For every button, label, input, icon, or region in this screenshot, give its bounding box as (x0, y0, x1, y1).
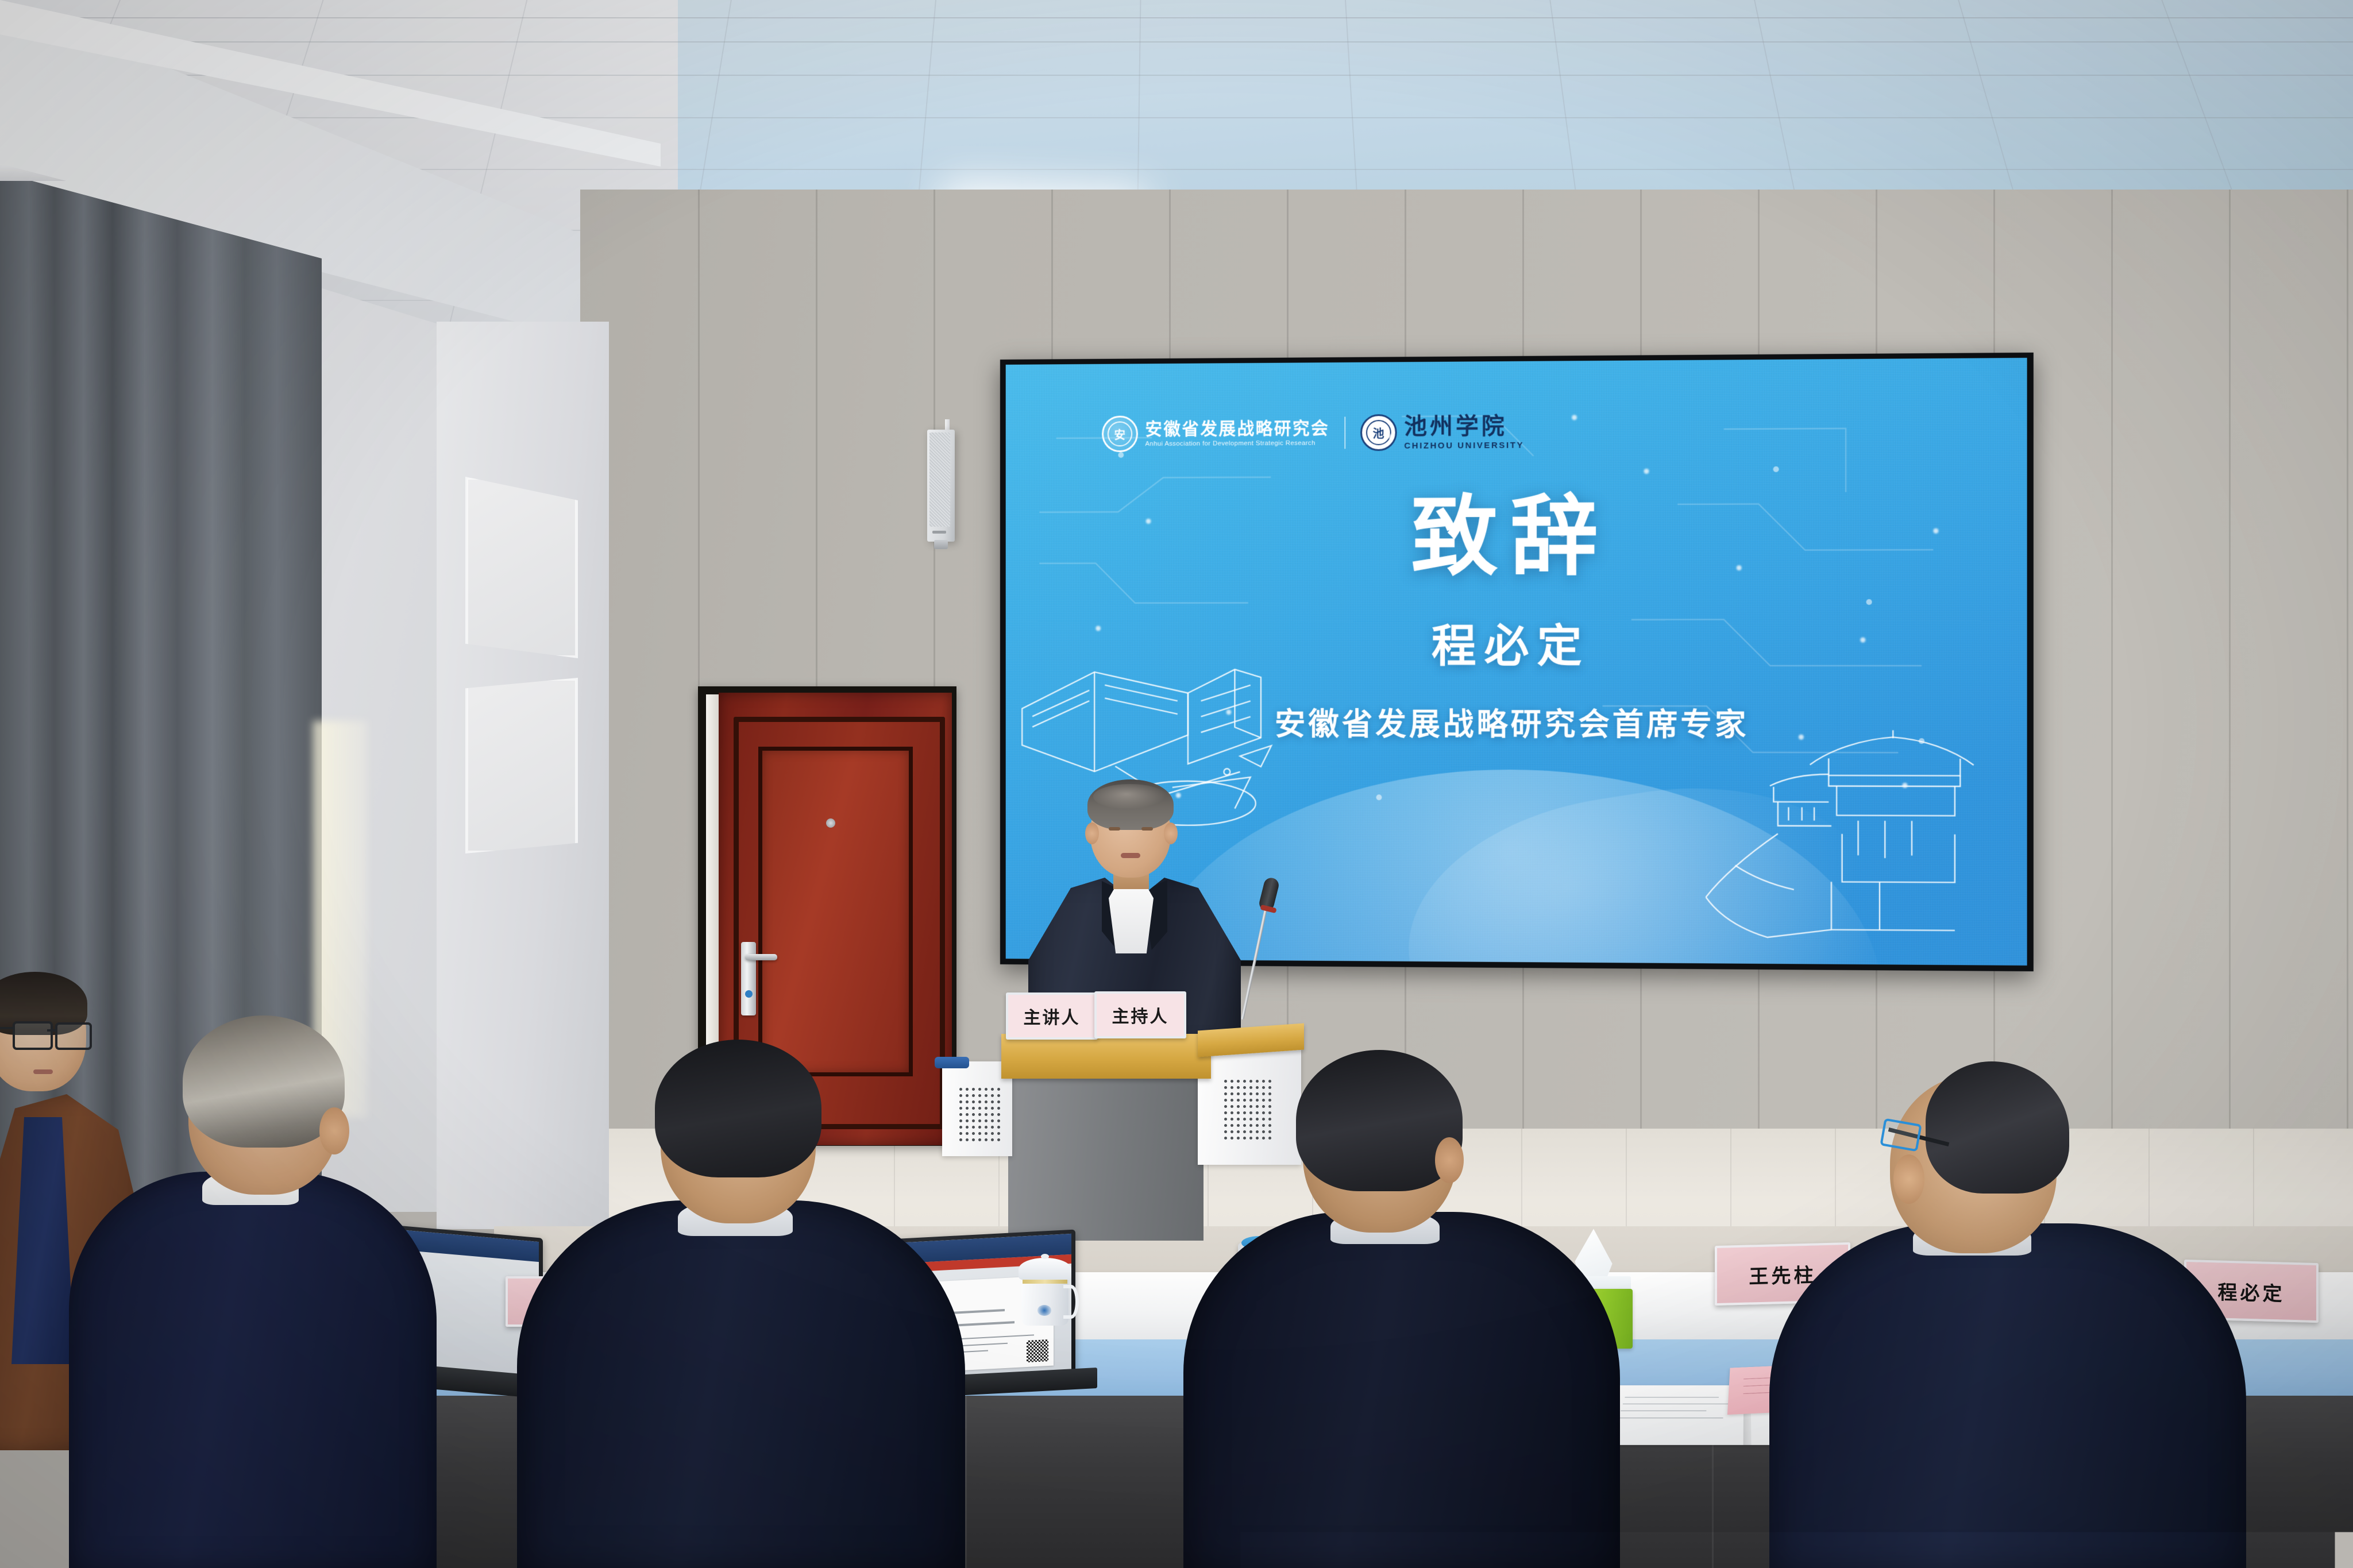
speaker-mount-bracket (934, 540, 948, 549)
slide-sparkle-dot (1737, 565, 1742, 570)
right-ear (1893, 1154, 1924, 1204)
door-handle-plate[interactable] (741, 942, 756, 1015)
chizhou-university-emblem-icon: 池 (1360, 414, 1397, 451)
tea-cup-body (1021, 1277, 1069, 1326)
lectern-body (1008, 1065, 1203, 1241)
door-panel-inner (758, 747, 913, 1076)
lectern-plate-host: 主持人 (1094, 991, 1186, 1038)
pillar-access-panel-lower (465, 678, 578, 853)
slide-sparkle-dot (1798, 734, 1803, 739)
grey-hair-navy-sweater (69, 1172, 437, 1568)
logo-anhui: 安 安徽省发展战略研究会 Anhui Association for Devel… (1102, 415, 1329, 453)
observer-mouth (33, 1069, 53, 1074)
anhui-emblem-glyph: 安 (1108, 422, 1132, 447)
center-left-suit (517, 1200, 965, 1568)
slide-text-block: 致辞 程必定 安徽省发展战略研究会首席专家 (1006, 492, 2027, 746)
podium-speaker-hair (1087, 779, 1174, 830)
speaker-ear-left (1085, 822, 1099, 844)
slide-title: 致辞 (1006, 492, 2027, 582)
slide-speaker-name: 程必定 (1006, 610, 2027, 675)
speaker-brand-badge (932, 531, 946, 534)
speaker-eye-right (1141, 827, 1153, 831)
slide-logo-row: 安 安徽省发展战略研究会 Anhui Association for Devel… (1102, 414, 1524, 453)
slide-sparkle-dot (1146, 519, 1151, 524)
lectern-speaker-grille-left (959, 1088, 1000, 1141)
chizhou-logo-cn: 池州学院 (1404, 414, 1524, 440)
lectern-wood-top (1001, 1034, 1211, 1079)
anhui-logo-en: Anhui Association for Development Strate… (1145, 440, 1329, 448)
right-navy-suit (1769, 1223, 2246, 1568)
conference-room-scene: 安 安徽省发展战略研究会 Anhui Association for Devel… (0, 0, 2353, 1568)
slide-sparkle-dot (1902, 783, 1907, 788)
lectern-plate-speaker: 主讲人 (1006, 992, 1098, 1040)
tea-cup-handle (1063, 1285, 1079, 1319)
center-right-suit (1183, 1212, 1620, 1568)
wall-pillar (437, 322, 609, 1229)
lectern: 主讲人 主持人 (951, 1011, 1295, 1241)
slide-canvas: 安 安徽省发展战略研究会 Anhui Association for Devel… (1006, 358, 2027, 965)
wall-column-speaker (927, 430, 955, 542)
lectern-side-panel-right (1198, 1050, 1301, 1165)
chizhou-logo-en: CHIZHOU UNIVERSITY (1404, 441, 1524, 451)
grey-hair-ear (319, 1107, 349, 1154)
pillar-access-panel-upper (465, 477, 578, 658)
speaker-mouth (1121, 853, 1140, 858)
led-display-wall: 安 安徽省发展战略研究会 Anhui Association for Devel… (1000, 353, 2034, 971)
speaker-eye-left (1109, 827, 1120, 831)
door-peephole-icon (826, 818, 835, 828)
lectern-blue-control[interactable] (935, 1057, 969, 1068)
anhui-logo-cn: 安徽省发展战略研究会 (1145, 419, 1329, 439)
logo-divider (1344, 417, 1345, 449)
slide-sparkle-dot (1226, 709, 1232, 715)
slide-sparkle-dot (1388, 434, 1394, 439)
chizhou-emblem-glyph: 池 (1366, 420, 1391, 445)
logo-chizhou: 池 池州学院 CHIZHOU UNIVERSITY (1360, 414, 1524, 451)
lectern-speaker-grille-right (1224, 1080, 1271, 1140)
slide-sparkle-dot (1933, 528, 1938, 534)
speaker-grille (929, 432, 950, 527)
anhui-association-emblem-icon: 安 (1102, 416, 1138, 453)
speaker-ear-right (1164, 822, 1178, 844)
center-right-ear (1435, 1137, 1464, 1183)
tea-cup-center (1021, 1258, 1069, 1326)
door-lever-handle[interactable] (745, 954, 777, 960)
document-qr-code-icon (1027, 1340, 1048, 1363)
center-left-hair (655, 1040, 821, 1177)
door-card-reader-icon[interactable] (745, 990, 753, 998)
tea-cup-lid (1019, 1258, 1071, 1281)
slide-speaker-role: 安徽省发展战略研究会首席专家 (1006, 698, 2027, 745)
